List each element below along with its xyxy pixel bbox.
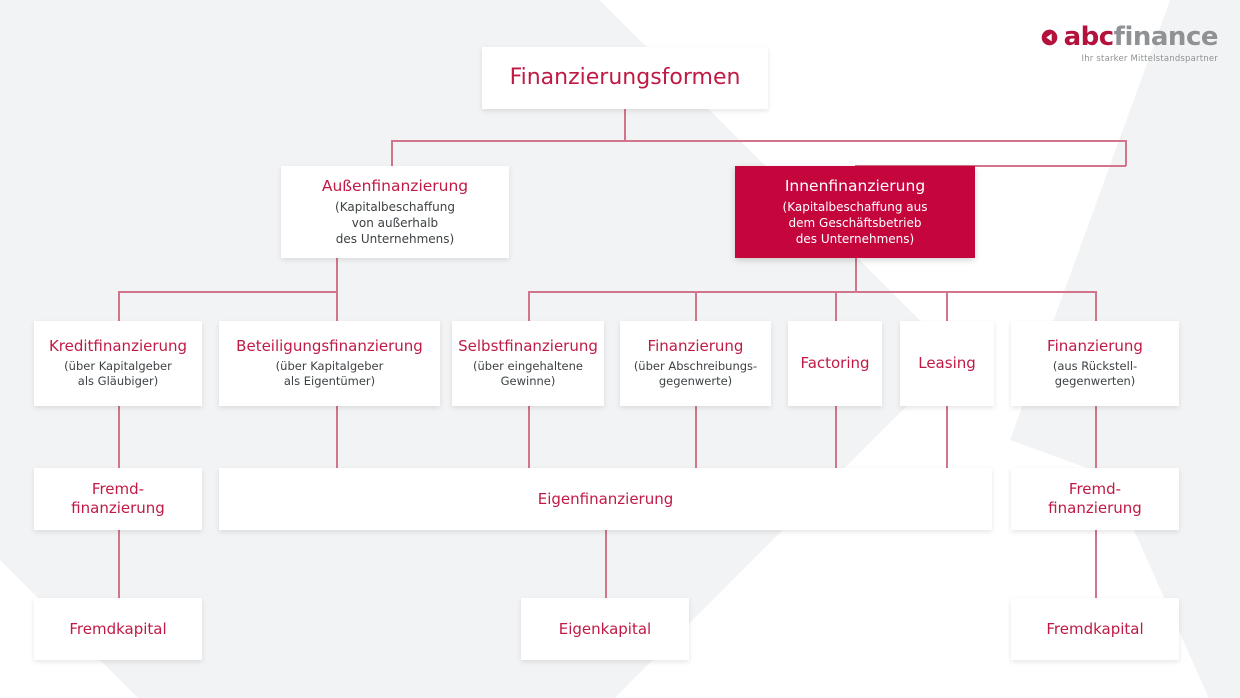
node-title: Beteiligungsfinanzierung — [236, 337, 423, 356]
connector-fremdfin-right-down — [1095, 530, 1097, 598]
node-subtitle-line: des Unternehmens) — [335, 231, 455, 247]
node-eigenkapital[interactable]: Eigenkapital — [521, 598, 689, 660]
node-subtitle: (über Kapitalgeber als Eigentümer) — [276, 359, 384, 390]
node-subtitle-line: (über Abschreibungs- — [634, 359, 757, 374]
connector-rueckstell-down — [1095, 406, 1097, 468]
connector-to-selbst — [528, 291, 530, 321]
node-title-line: Fremd- — [1048, 480, 1142, 499]
node-finanzierung-rueckstellungsgegenwerte[interactable]: Finanzierung (aus Rückstell- gegenwerten… — [1011, 321, 1179, 406]
node-title-line: finanzierung — [1048, 499, 1142, 518]
node-subtitle-line: des Unternehmens) — [783, 231, 928, 247]
connector-to-innen-right — [1125, 140, 1127, 166]
connector-to-kredit — [118, 291, 120, 321]
brand-name-primary: abc — [1064, 24, 1114, 50]
node-subtitle-line: als Eigentümer) — [276, 374, 384, 389]
node-title: Finanzierung — [1047, 337, 1143, 356]
connector-kredit-down — [118, 406, 120, 468]
connector-abschreibung-down — [695, 406, 697, 468]
node-title: Selbstfinanzierung — [458, 337, 598, 356]
node-subtitle-line: gegenwerten) — [1053, 374, 1137, 389]
node-title-line: Fremd- — [71, 480, 165, 499]
node-title: Factoring — [800, 354, 869, 373]
node-title: Eigenfinanzierung — [538, 490, 674, 509]
node-title: Leasing — [918, 354, 976, 373]
connector-to-aussen — [391, 140, 393, 166]
connector-to-abschreibung — [695, 291, 697, 321]
node-subtitle-line: (aus Rückstell- — [1053, 359, 1137, 374]
brand-tagline: Ihr starker Mittelstandspartner — [1041, 55, 1218, 64]
node-selbstfinanzierung[interactable]: Selbstfinanzierung (über eingehaltene Ge… — [452, 321, 604, 406]
node-subtitle-line: (über Kapitalgeber — [276, 359, 384, 374]
node-fremdfinanzierung-right[interactable]: Fremd- finanzierung — [1011, 468, 1179, 530]
node-subtitle: (über Abschreibungs- gegenwerte) — [634, 359, 757, 390]
connector-to-factoring — [835, 291, 837, 321]
connector-factoring-down — [835, 406, 837, 468]
connector-beteiligung-down — [336, 406, 338, 468]
node-title: Fremdkapital — [69, 620, 166, 639]
node-subtitle-line: (über eingehaltene — [473, 359, 583, 374]
connector-to-leasing — [946, 291, 948, 321]
node-subtitle: (aus Rückstell- gegenwerten) — [1053, 359, 1137, 390]
node-fremdkapital-left[interactable]: Fremdkapital — [34, 598, 202, 660]
connector-innen-bus — [528, 291, 1096, 293]
node-finanzierung-abschreibungsgegenwerte[interactable]: Finanzierung (über Abschreibungs- gegenw… — [620, 321, 771, 406]
node-title: Außenfinanzierung — [322, 177, 468, 196]
connector-leasing-down — [946, 406, 948, 468]
connector-root-down — [624, 108, 626, 141]
circle-arrow-icon — [1041, 29, 1058, 46]
connector-eigenfin-down — [605, 530, 607, 598]
connector-to-rueckstell — [1095, 291, 1097, 321]
node-subtitle-line: von außerhalb — [335, 215, 455, 231]
node-title: Innenfinanzierung — [785, 177, 925, 196]
node-aussenfinanzierung[interactable]: Außenfinanzierung (Kapitalbeschaffung vo… — [281, 166, 509, 258]
node-eigenfinanzierung[interactable]: Eigenfinanzierung — [219, 468, 992, 530]
node-subtitle-line: (Kapitalbeschaffung aus — [783, 199, 928, 215]
node-finanzierungsformen[interactable]: Finanzierungsformen — [482, 47, 768, 109]
node-subtitle-line: (über Kapitalgeber — [64, 359, 172, 374]
connector-selbst-down — [528, 406, 530, 468]
node-title: Kreditfinanzierung — [49, 337, 187, 356]
connector-fremdfin-left-down — [118, 530, 120, 598]
node-subtitle-line: dem Geschäftsbetrieb — [783, 215, 928, 231]
node-subtitle: (über Kapitalgeber als Gläubiger) — [64, 359, 172, 390]
node-title-line: finanzierung — [71, 499, 165, 518]
connector-innen-down — [855, 257, 857, 292]
node-subtitle-line: Gewinne) — [473, 374, 583, 389]
node-title: Fremd- finanzierung — [71, 480, 165, 518]
node-subtitle-line: (Kapitalbeschaffung — [335, 199, 455, 215]
node-subtitle-line: als Gläubiger) — [64, 374, 172, 389]
node-fremdfinanzierung-left[interactable]: Fremd- finanzierung — [34, 468, 202, 530]
node-title: Finanzierungsformen — [510, 64, 741, 92]
node-kreditfinanzierung[interactable]: Kreditfinanzierung (über Kapitalgeber al… — [34, 321, 202, 406]
brand-logo: abc finance Ihr starker Mittelstandspart… — [1041, 24, 1218, 64]
connector-aussen-down — [336, 257, 338, 292]
node-title: Fremd- finanzierung — [1048, 480, 1142, 518]
connector-level2-bus — [391, 140, 1126, 142]
connector-to-beteiligung — [336, 291, 338, 321]
brand-name-secondary: finance — [1114, 24, 1218, 50]
node-beteiligungsfinanzierung[interactable]: Beteiligungsfinanzierung (über Kapitalge… — [219, 321, 440, 406]
node-leasing[interactable]: Leasing — [900, 321, 994, 406]
node-subtitle: (Kapitalbeschaffung von außerhalb des Un… — [335, 199, 455, 247]
diagram-canvas: abc finance Ihr starker Mittelstandspart… — [0, 0, 1240, 698]
node-factoring[interactable]: Factoring — [788, 321, 882, 406]
node-title: Finanzierung — [648, 337, 744, 356]
node-subtitle: (Kapitalbeschaffung aus dem Geschäftsbet… — [783, 199, 928, 247]
node-subtitle-line: gegenwerte) — [634, 374, 757, 389]
connector-aussen-bus — [118, 291, 337, 293]
node-title: Eigenkapital — [559, 620, 651, 639]
node-subtitle: (über eingehaltene Gewinne) — [473, 359, 583, 390]
node-title: Fremdkapital — [1046, 620, 1143, 639]
node-fremdkapital-right[interactable]: Fremdkapital — [1011, 598, 1179, 660]
node-innenfinanzierung[interactable]: Innenfinanzierung (Kapitalbeschaffung au… — [735, 166, 975, 258]
